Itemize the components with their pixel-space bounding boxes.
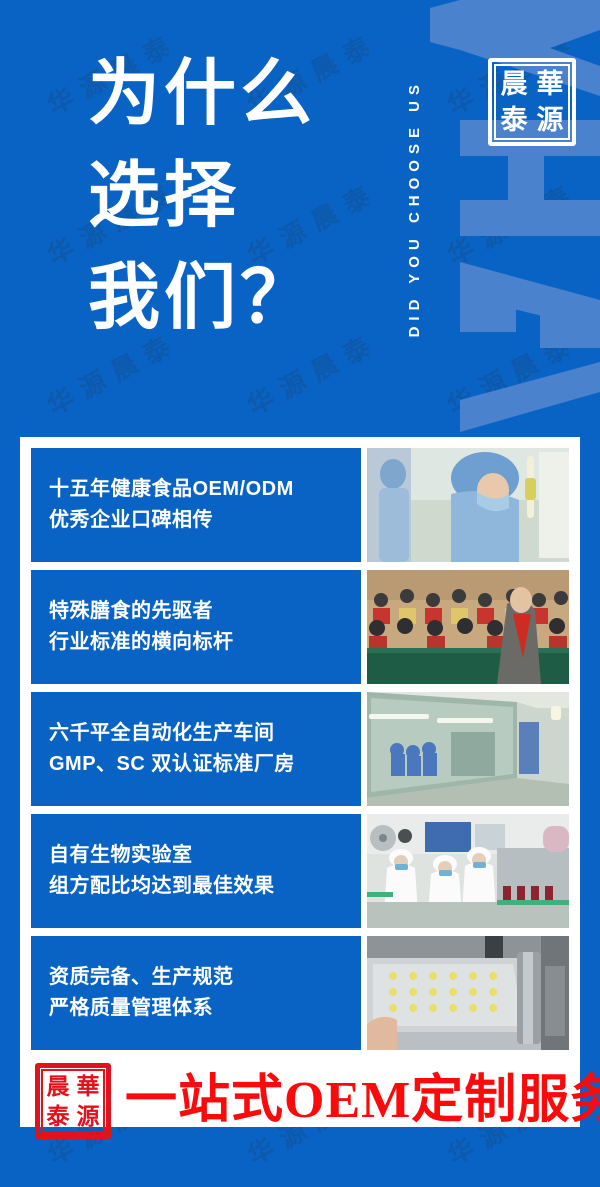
features-list: 十五年健康食品OEM/ODM 优秀企业口碑相传	[31, 448, 569, 1050]
feature-line-1: 资质完备、生产规范	[49, 962, 343, 993]
title-line-1: 为什么	[88, 48, 388, 140]
seal-char-1: 晨	[496, 66, 532, 102]
title-line-3: 我们？	[88, 252, 388, 344]
poster-root: 为什么 选择 我们？ DID YOU CHOOSE US 晨 華 泰 源 十五年…	[0, 0, 600, 1187]
feature-row: 自有生物实验室 组方配比均达到最佳效果	[31, 814, 569, 928]
cta-banner: 晨 華 泰 源 一站式OEM定制服务	[31, 1058, 569, 1144]
feature-line-2: 行业标准的横向标杆	[49, 627, 343, 658]
feature-image	[367, 814, 569, 928]
feature-line-2: 严格质量管理体系	[49, 993, 343, 1024]
seal-char-2: 華	[532, 66, 568, 102]
vertical-tagline: DID YOU CHOOSE US	[401, 28, 427, 388]
seal-inner-grid: 晨 華 泰 源	[494, 64, 570, 140]
brand-seal-logo-white: 晨 華 泰 源	[488, 58, 576, 146]
header-section: 为什么 选择 我们？ DID YOU CHOOSE US 晨 華 泰 源	[0, 0, 600, 437]
feature-card: 自有生物实验室 组方配比均达到最佳效果	[31, 814, 361, 928]
feature-line-1: 十五年健康食品OEM/ODM	[49, 474, 343, 505]
seal-char-1: 晨	[43, 1071, 73, 1101]
feature-line-2: 组方配比均达到最佳效果	[49, 871, 343, 902]
feature-line-1: 六千平全自动化生产车间	[49, 718, 343, 749]
feature-row: 资质完备、生产规范 严格质量管理体系	[31, 936, 569, 1050]
feature-card: 资质完备、生产规范 严格质量管理体系	[31, 936, 361, 1050]
seal-inner-grid: 晨 華 泰 源	[41, 1069, 105, 1133]
feature-line-2: 优秀企业口碑相传	[49, 505, 343, 536]
feature-image	[367, 692, 569, 806]
cta-banner-text: 一站式OEM定制服务	[125, 1075, 600, 1127]
feature-card: 六千平全自动化生产车间 GMP、SC 双认证标准厂房	[31, 692, 361, 806]
seal-char-2: 華	[73, 1071, 103, 1101]
feature-row: 十五年健康食品OEM/ODM 优秀企业口碑相传	[31, 448, 569, 562]
feature-card: 特殊膳食的先驱者 行业标准的横向标杆	[31, 570, 361, 684]
feature-card: 十五年健康食品OEM/ODM 优秀企业口碑相传	[31, 448, 361, 562]
feature-row: 六千平全自动化生产车间 GMP、SC 双认证标准厂房	[31, 692, 569, 806]
seal-char-4: 源	[73, 1101, 103, 1131]
page-title: 为什么 选择 我们？	[88, 48, 388, 344]
feature-row: 特殊膳食的先驱者 行业标准的横向标杆	[31, 570, 569, 684]
feature-line-1: 自有生物实验室	[49, 840, 343, 871]
features-panel: 十五年健康食品OEM/ODM 优秀企业口碑相传	[20, 437, 580, 1127]
seal-char-4: 源	[532, 102, 568, 138]
seal-char-3: 泰	[496, 102, 532, 138]
brand-seal-logo-red: 晨 華 泰 源	[35, 1063, 111, 1139]
seal-char-3: 泰	[43, 1101, 73, 1131]
feature-image	[367, 448, 569, 562]
feature-line-2: GMP、SC 双认证标准厂房	[49, 749, 343, 780]
title-line-2: 选择	[88, 150, 388, 242]
feature-line-1: 特殊膳食的先驱者	[49, 596, 343, 627]
vertical-tagline-text: DID YOU CHOOSE US	[406, 79, 423, 337]
feature-image	[367, 570, 569, 684]
feature-image	[367, 936, 569, 1050]
